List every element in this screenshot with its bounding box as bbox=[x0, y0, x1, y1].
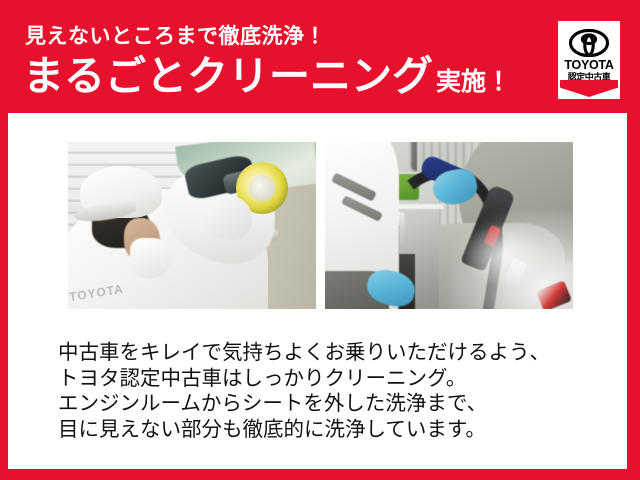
poster-header-banner: 見えないところまで徹底洗浄！ まるごとクリーニング 実施！ TOYOTA 認定中… bbox=[0, 0, 640, 113]
photo-gallery: TOYOTA bbox=[68, 142, 574, 309]
header-kicker-text: 見えないところまで徹底洗浄！ bbox=[25, 26, 326, 47]
body-copy-line: エンジンルームからシートを外した洗浄まで、 bbox=[58, 391, 603, 417]
cleaning-promo-poster: 見えないところまで徹底洗浄！ まるごとクリーニング 実施！ TOYOTA 認定中… bbox=[0, 0, 640, 480]
body-copy-line: 中古車をキレイで気持ちよくお乗りいただけるよう、 bbox=[58, 340, 603, 366]
header-headline: まるごとクリーニング 実施！ bbox=[23, 56, 511, 97]
steam-vapor bbox=[463, 223, 547, 287]
body-copy-line: 目に見えない部分も徹底的に洗浄しています。 bbox=[58, 417, 603, 443]
poster-content-card: TOYOTA bbox=[8, 113, 627, 469]
toyota-certified-badge: TOYOTA 認定中古車 bbox=[558, 21, 620, 99]
body-copy-block: 中古車をキレイで気持ちよくお乗りいただけるよう、 トヨタ認定中古車はしっかりクリ… bbox=[58, 340, 603, 442]
toyota-emblem-icon bbox=[569, 29, 609, 57]
worker-face-mask bbox=[130, 238, 172, 278]
badge-chevron-shape bbox=[560, 80, 618, 97]
badge-inner: TOYOTA 認定中古車 bbox=[560, 23, 618, 97]
headline-main-text: まるごとクリーニング bbox=[23, 56, 433, 97]
worker-glove bbox=[206, 196, 252, 240]
badge-wordmark-text: TOYOTA bbox=[560, 59, 618, 72]
headline-suffix-text: 実施！ bbox=[436, 70, 511, 95]
seat-steam-cleaning-photo bbox=[325, 142, 573, 309]
body-copy-line: トヨタ認定中古車はしっかりクリーニング。 bbox=[58, 366, 603, 392]
exterior-polishing-photo: TOYOTA bbox=[68, 142, 316, 309]
